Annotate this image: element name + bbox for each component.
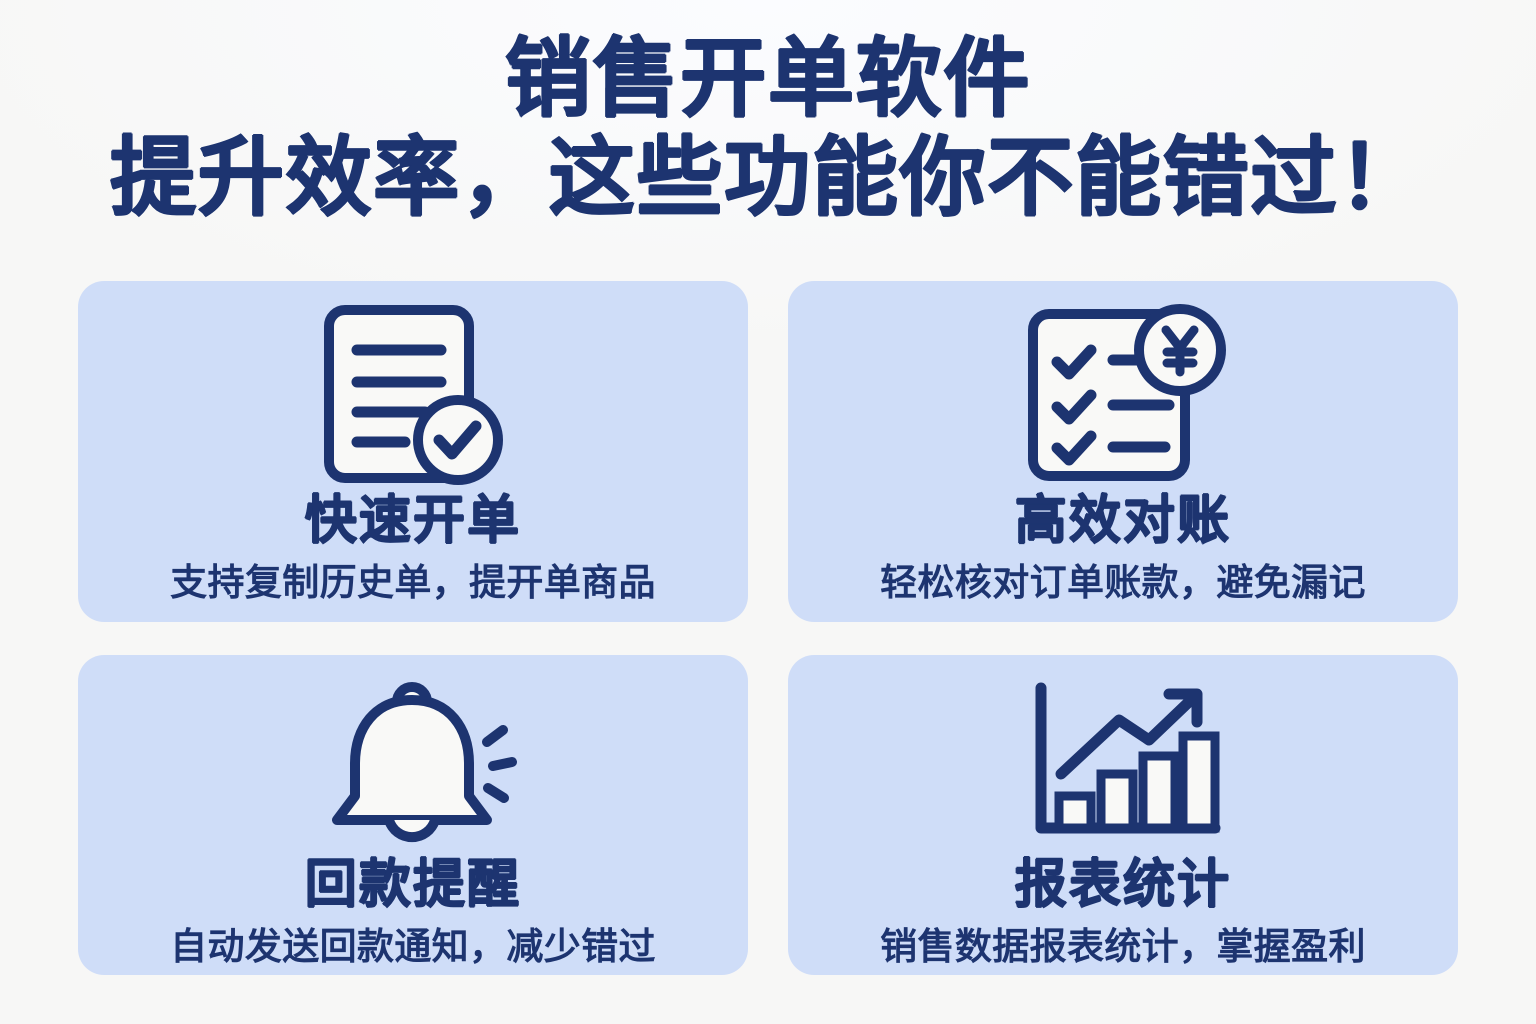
feature-card-title: 回款提醒 (305, 857, 521, 914)
headline-line-1: 销售开单软件 (0, 34, 1536, 125)
document-check-icon (313, 299, 513, 491)
feature-card-subtitle: 自动发送回款通知，减少错过 (170, 926, 656, 969)
feature-card-title: 报表统计 (1015, 857, 1231, 914)
page-title: 销售开单软件 提升效率，这些功能你不能错过！ (0, 0, 1536, 224)
bar-chart-trend-icon (1017, 673, 1229, 851)
feature-card-title: 高效对账 (1015, 493, 1231, 550)
feature-card-grid: 快速开单 支持复制历史单，提开单商品 (78, 281, 1458, 975)
feature-card-subtitle: 支持复制历史单，提开单商品 (170, 562, 656, 605)
feature-card-subtitle: 销售数据报表统计，掌握盈利 (880, 926, 1366, 969)
feature-card-subtitle: 轻松核对订单账款，避免漏记 (880, 562, 1366, 605)
checklist-yen-icon (1017, 299, 1229, 491)
feature-card-reconciliation[interactable]: 高效对账 轻松核对订单账款，避免漏记 (788, 281, 1458, 622)
feature-card-reports[interactable]: 报表统计 销售数据报表统计，掌握盈利 (788, 655, 1458, 975)
feature-card-quick-billing[interactable]: 快速开单 支持复制历史单，提开单商品 (78, 281, 748, 622)
feature-card-title: 快速开单 (305, 493, 521, 550)
feature-card-payment-reminder[interactable]: 回款提醒 自动发送回款通知，减少错过 (78, 655, 748, 975)
headline-line-2: 提升效率，这些功能你不能错过！ (0, 133, 1536, 224)
poster-root: 销售开单软件 提升效率，这些功能你不能错过！ 快速开单 (0, 0, 1536, 1024)
bell-ring-icon (307, 673, 519, 851)
